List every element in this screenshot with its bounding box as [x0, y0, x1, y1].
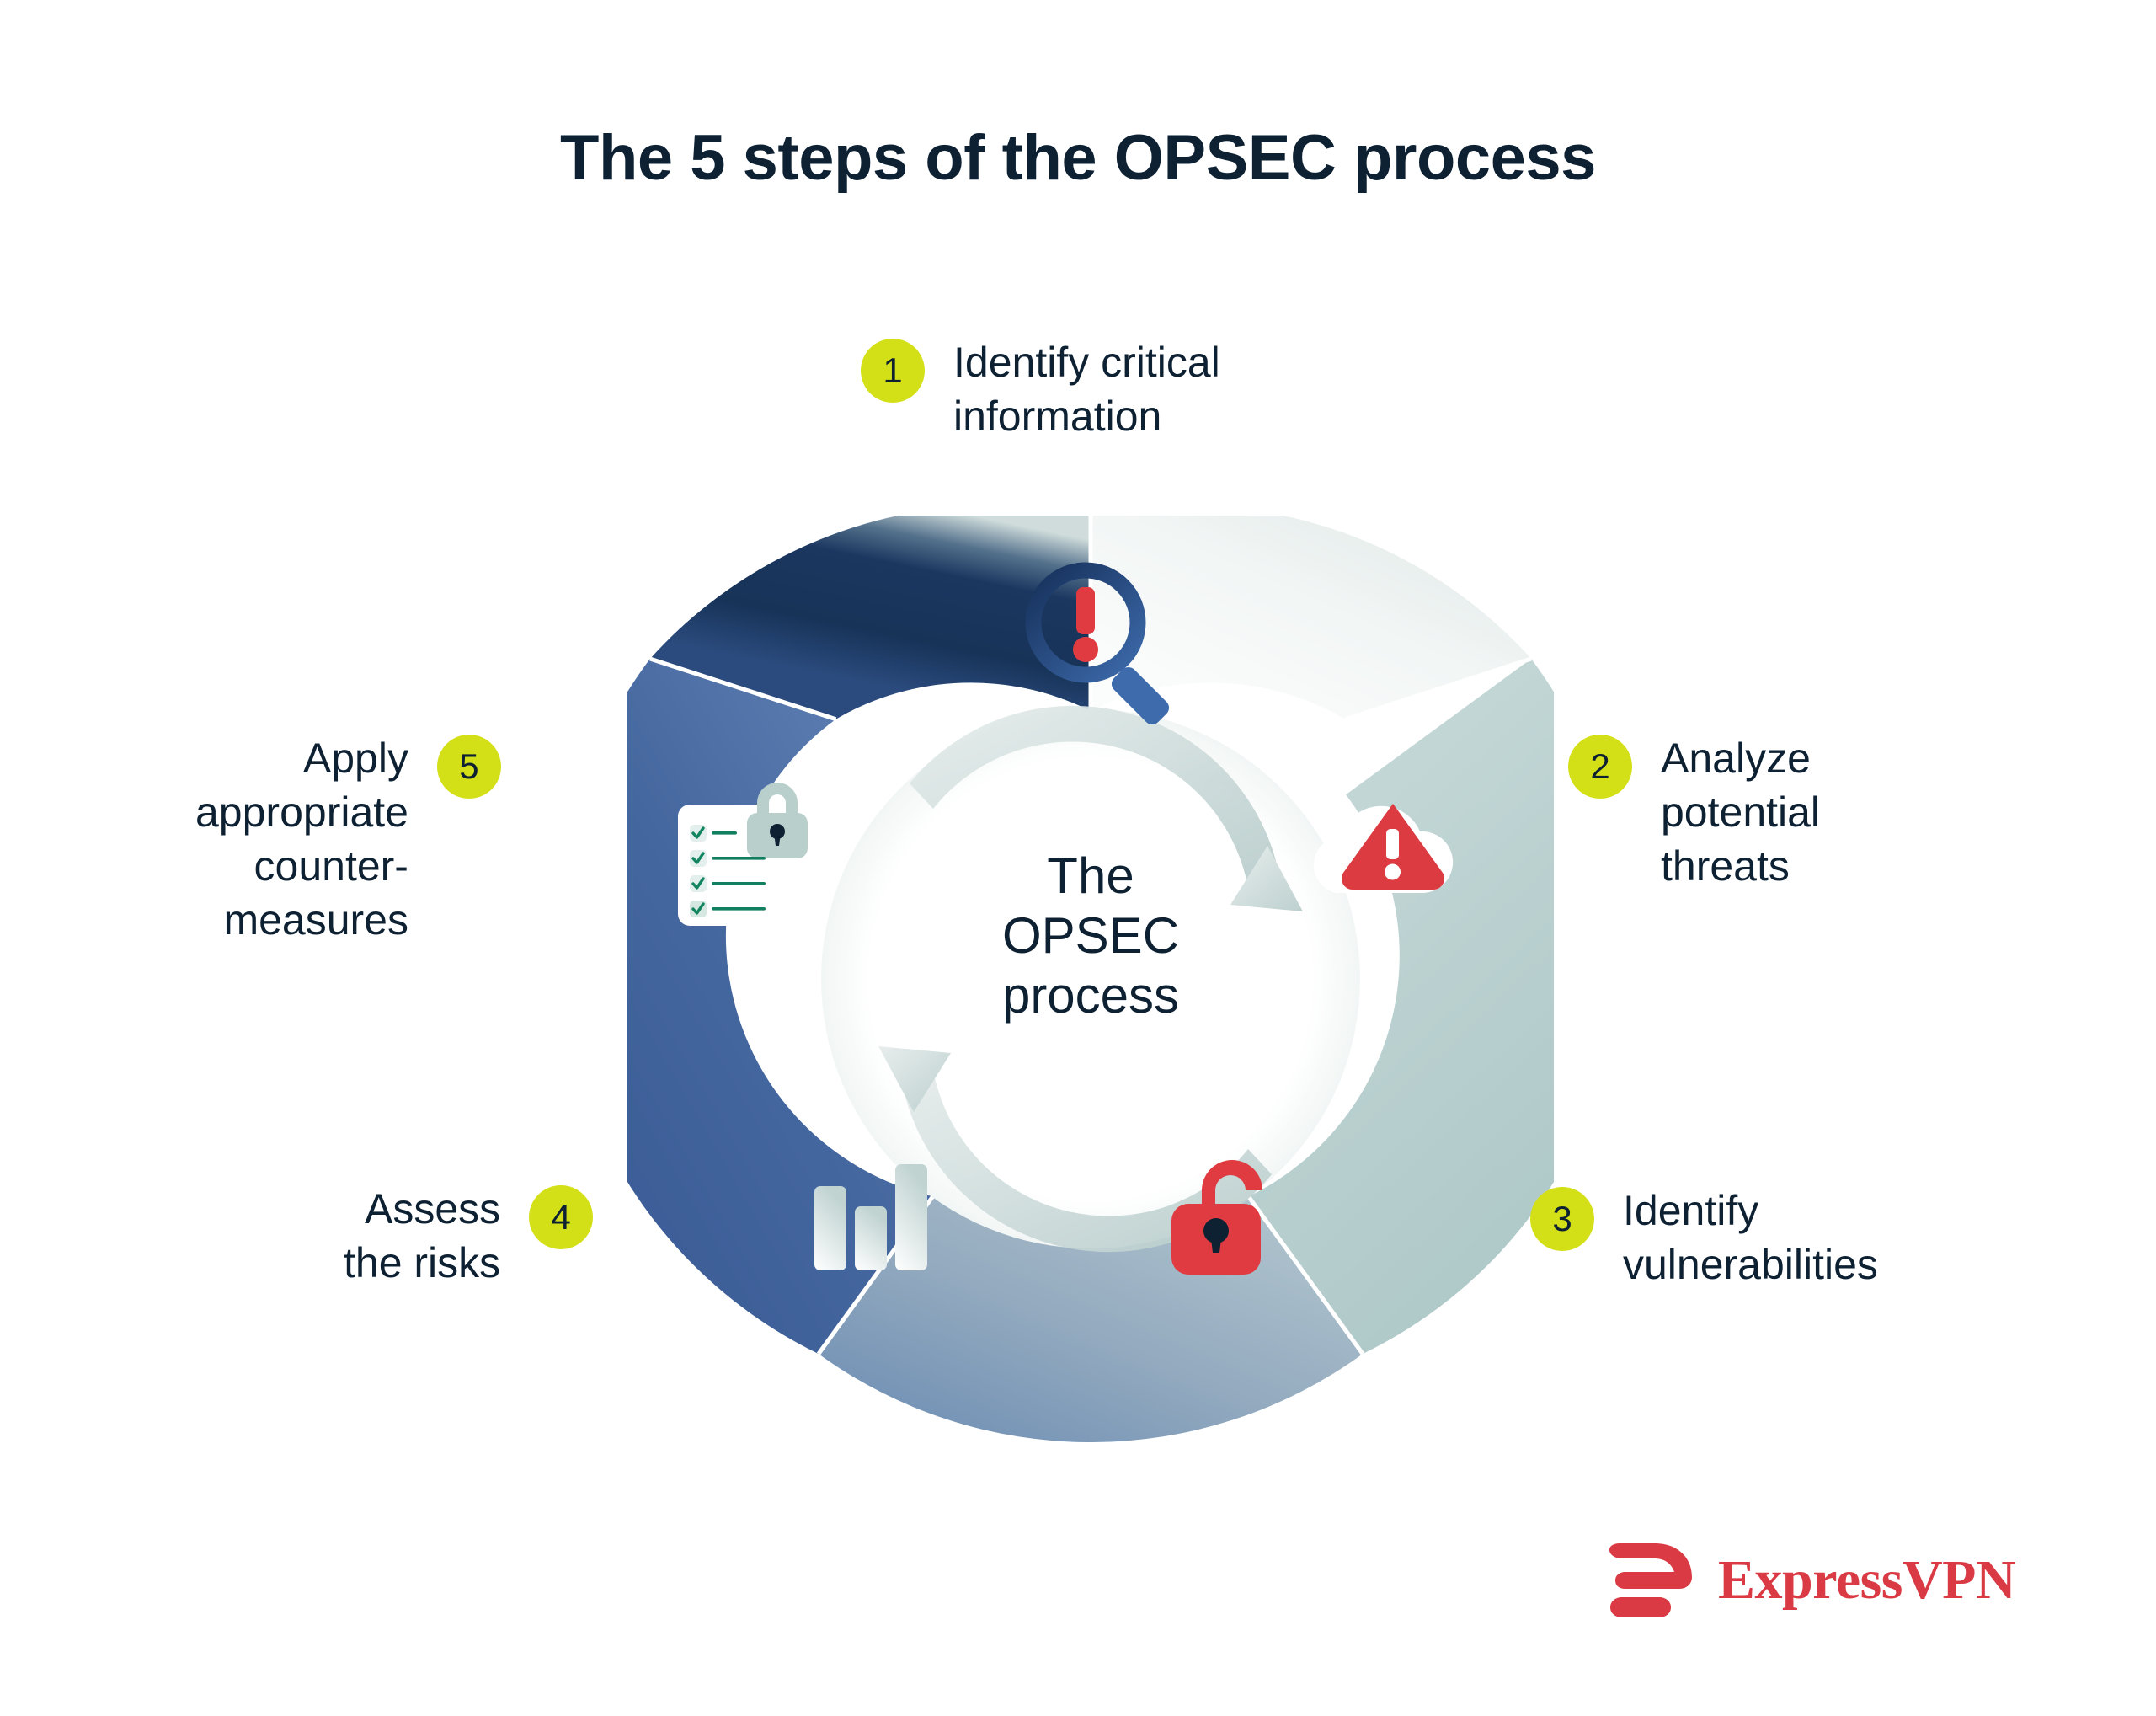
expressvpn-logo[interactable]: ExpressVPN [1607, 1540, 2015, 1621]
step-4[interactable]: 4 Assess the risks [344, 1182, 593, 1290]
step-5-badge: 5 [437, 735, 501, 799]
step-4-badge: 4 [529, 1185, 593, 1249]
step-5-label: Apply appropriate counter- measures [195, 731, 408, 947]
step-2[interactable]: 2 Analyze potential threats [1568, 731, 1820, 893]
step-1-badge: 1 [861, 339, 925, 403]
step-2-label: Analyze potential threats [1661, 731, 1820, 893]
wheel-segment-1 [1091, 516, 1531, 719]
expressvpn-e-mark [1607, 1540, 1696, 1621]
page-title: The 5 steps of the OPSEC process [0, 125, 2156, 192]
step-1[interactable]: 1 Identify critical information [861, 335, 1220, 443]
expressvpn-wordmark: ExpressVPN [1718, 1553, 2015, 1608]
step-3-label: Identify vulnerabilities [1623, 1184, 1878, 1291]
opsec-process-wheel [627, 516, 1554, 1442]
step-1-label: Identify critical information [953, 335, 1220, 443]
step-4-label: Assess the risks [344, 1182, 500, 1290]
step-3[interactable]: 3 Identify vulnerabilities [1530, 1184, 1878, 1291]
step-3-badge: 3 [1530, 1187, 1594, 1251]
step-5[interactable]: 5 Apply appropriate counter- measures [195, 731, 501, 947]
step-2-badge: 2 [1568, 735, 1632, 799]
